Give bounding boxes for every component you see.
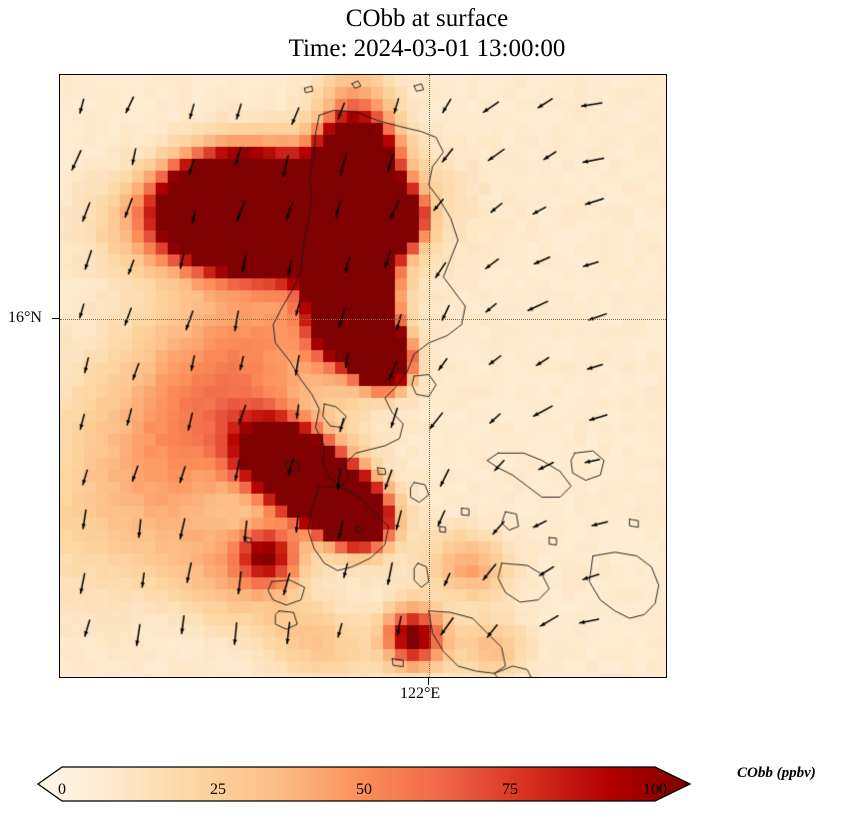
y-axis-tick-label-16n: 16°N: [8, 309, 42, 327]
cobb-heatmap-canvas: [60, 75, 666, 677]
colorbar: 0 25 50 75 100 CObb (ppbv): [0, 755, 854, 836]
colorbar-tick-0: 0: [32, 781, 92, 799]
x-axis-tick-label-122e: 122°E: [400, 685, 440, 703]
title-time-line: Time: 2024-03-01 13:00:00: [0, 34, 854, 64]
colorbar-unit-label: CObb (ppbv): [737, 765, 816, 782]
colorbar-tick-50: 50: [334, 781, 394, 799]
title-variable-line: CObb at surface: [0, 4, 854, 34]
map-plot-area: [59, 74, 667, 678]
tick-mark-16n: [52, 318, 59, 319]
gridline-122e: [429, 75, 430, 677]
colorbar-tick-100: 100: [625, 781, 685, 799]
colorbar-gradient: [0, 755, 854, 815]
colorbar-tick-25: 25: [188, 781, 248, 799]
figure-title: CObb at surface Time: 2024-03-01 13:00:0…: [0, 4, 854, 64]
tick-mark-122e: [428, 678, 429, 685]
gridline-16n: [60, 319, 666, 320]
colorbar-tick-75: 75: [480, 781, 540, 799]
